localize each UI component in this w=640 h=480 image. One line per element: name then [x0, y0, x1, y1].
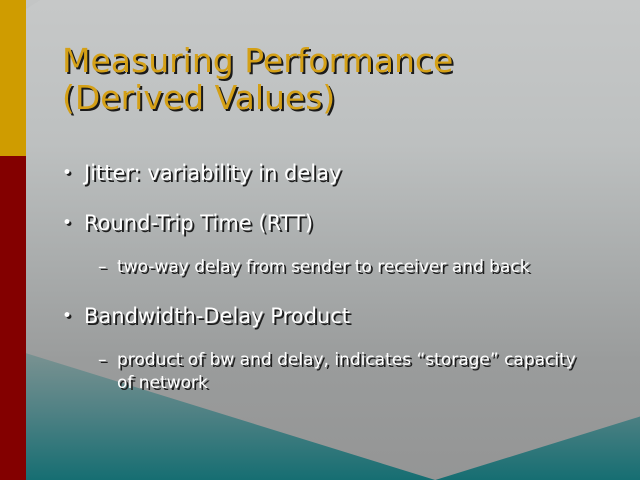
- list-spacer: [62, 192, 622, 210]
- list-spacer: [62, 242, 622, 256]
- list-spacer: [62, 335, 622, 349]
- list-item: • Bandwidth-Delay Product: [62, 303, 622, 329]
- list-spacer: [62, 283, 622, 303]
- bullet-marker-icon: •: [62, 160, 84, 186]
- slide-body-list: • Jitter: variability in delay • Round-T…: [62, 160, 622, 399]
- sub-list-item: – two-way delay from sender to receiver …: [98, 256, 622, 279]
- slide-content: Measuring Performance (Derived Values) •…: [0, 0, 640, 480]
- sub-list-item-label: product of bw and delay, indicates “stor…: [117, 349, 587, 395]
- list-item-label: Jitter: variability in delay: [84, 160, 622, 186]
- slide-title: Measuring Performance (Derived Values): [62, 42, 602, 116]
- dash-marker-icon: –: [98, 349, 117, 372]
- list-item-label: Round-Trip Time (RTT): [84, 210, 622, 236]
- sub-list-item: – product of bw and delay, indicates “st…: [98, 349, 622, 395]
- list-item: • Jitter: variability in delay: [62, 160, 622, 186]
- bullet-marker-icon: •: [62, 303, 84, 329]
- list-item-label: Bandwidth-Delay Product: [84, 303, 622, 329]
- list-item: • Round-Trip Time (RTT): [62, 210, 622, 236]
- bullet-marker-icon: •: [62, 210, 84, 236]
- sub-list-item-label: two-way delay from sender to receiver an…: [117, 256, 587, 279]
- presentation-slide: Measuring Performance (Derived Values) •…: [0, 0, 640, 480]
- dash-marker-icon: –: [98, 256, 117, 279]
